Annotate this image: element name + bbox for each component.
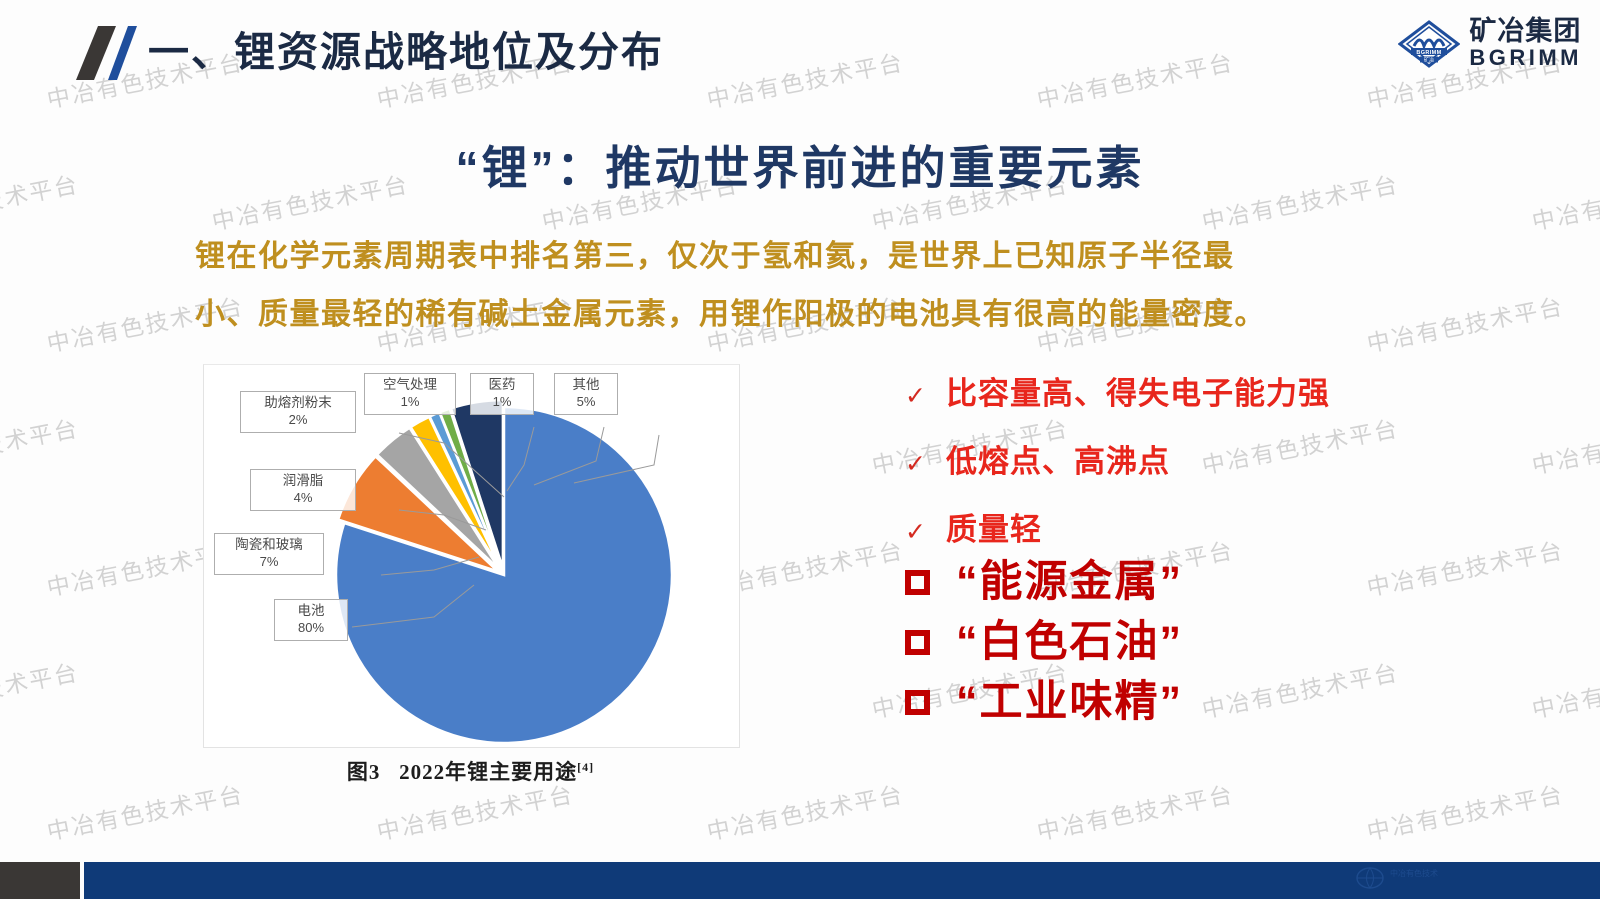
watermark-text: 中冶有色技术平台 <box>0 653 81 725</box>
brand-wordmark: 矿冶集团 BGRIMM <box>1469 18 1582 69</box>
list-item: ✓ 比容量高、得失电子能力强 <box>905 368 1330 413</box>
pie-callout-grease: 润滑脂 4% <box>250 469 356 511</box>
hollow-square-icon <box>905 690 930 715</box>
chart-caption-text: 2022年锂主要用途 <box>399 760 577 784</box>
svg-text:中冶有色技术: 中冶有色技术 <box>1390 868 1438 878</box>
nickname-square-list: “能源金属” “白色石油” “工业味精” <box>905 556 1183 736</box>
check-item-label: 质量轻 <box>946 504 1042 549</box>
watermark-text: 中冶有色技术平台 <box>0 409 81 481</box>
footer-accent-block <box>0 862 80 899</box>
list-item: ✓ 质量轻 <box>905 504 1330 549</box>
pie-chart-panel: 助熔剂粉末 2% 润滑脂 4% 陶瓷和玻璃 7% 电池 80% 空气处理 1% … <box>203 364 740 748</box>
headline: “锂”：推动世界前进的重要元素 <box>0 132 1600 198</box>
footer-logo-icon: 中冶有色技术 <box>1354 862 1504 890</box>
square-item-label: “工业味精” <box>956 676 1183 728</box>
slide-canvas: 一、锂资源战略地位及分布 BGRIMM 矿冶 矿冶集团 BGRIMM “锂”：推… <box>0 0 1600 899</box>
check-icon: ✓ <box>905 451 930 476</box>
list-item: “能源金属” <box>905 556 1183 608</box>
pie-chart: 助熔剂粉末 2% 润滑脂 4% 陶瓷和玻璃 7% 电池 80% 空气处理 1% … <box>204 365 739 747</box>
pie-callout-pharma: 医药 1% <box>470 373 534 415</box>
pie-callout-other: 其他 5% <box>554 373 618 415</box>
page-title: 一、锂资源战略地位及分布 <box>148 18 664 78</box>
pie-callout-battery: 电池 80% <box>274 599 348 641</box>
check-icon: ✓ <box>905 519 930 544</box>
slide-header: 一、锂资源战略地位及分布 BGRIMM 矿冶 矿冶集团 BGRIMM <box>0 0 1600 100</box>
square-item-label: “能源金属” <box>956 556 1183 608</box>
list-item: “工业味精” <box>905 676 1183 728</box>
double-slash-icon <box>58 22 144 84</box>
hollow-square-icon <box>905 630 930 655</box>
chart-caption-ref: [4] <box>577 760 594 774</box>
bgrimm-emblem-icon: BGRIMM 矿冶 <box>1398 20 1460 68</box>
feature-check-list: ✓ 比容量高、得失电子能力强 ✓ 低熔点、高沸点 ✓ 质量轻 <box>905 368 1330 572</box>
body-paragraph: 锂在化学元素周期表中排名第三，仅次于氢和氦，是世界上已知原子半径最 小、质量最轻… <box>195 228 1415 344</box>
pie-callout-ceramics: 陶瓷和玻璃 7% <box>214 533 324 575</box>
check-item-label: 低熔点、高沸点 <box>946 436 1170 481</box>
list-item: ✓ 低熔点、高沸点 <box>905 436 1330 481</box>
svg-text:BGRIMM: BGRIMM <box>1417 50 1442 56</box>
list-item: “白色石油” <box>905 616 1183 668</box>
watermark-text: 中冶有色技术平台 <box>1199 653 1402 725</box>
watermark-text: 中冶有色技术平台 <box>1364 775 1567 847</box>
hollow-square-icon <box>905 570 930 595</box>
brand-logo: BGRIMM 矿冶 矿冶集团 BGRIMM <box>1398 18 1582 69</box>
square-item-label: “白色石油” <box>956 616 1183 668</box>
svg-text:矿冶: 矿冶 <box>1424 56 1434 63</box>
chart-caption: 图3 2022年锂主要用途[4] <box>203 756 738 786</box>
brand-name-cn: 矿冶集团 <box>1469 18 1581 45</box>
watermark-text: 中冶有色技术平台 <box>1529 653 1600 725</box>
paragraph-line-2: 小、质量最轻的稀有碱土金属元素，用锂作阳极的电池具有很高的能量密度。 <box>195 286 1415 344</box>
watermark-text: 中冶有色技术平台 <box>1364 531 1567 603</box>
pie-callout-flux: 助熔剂粉末 2% <box>240 391 356 433</box>
watermark-text: 中冶有色技术平台 <box>1034 775 1237 847</box>
pie-callout-air-treatment: 空气处理 1% <box>364 373 456 415</box>
watermark-text: 中冶有色技术平台 <box>1529 409 1600 481</box>
paragraph-line-1: 锂在化学元素周期表中排名第三，仅次于氢和氦，是世界上已知原子半径最 <box>195 228 1415 286</box>
check-icon: ✓ <box>905 383 930 408</box>
chart-caption-prefix: 图3 <box>347 760 381 784</box>
brand-name-en: BGRIMM <box>1469 47 1582 69</box>
pie-slice-group <box>336 400 672 743</box>
slide-footer: 中冶有色技术 <box>0 862 1600 899</box>
check-item-label: 比容量高、得失电子能力强 <box>946 368 1330 413</box>
